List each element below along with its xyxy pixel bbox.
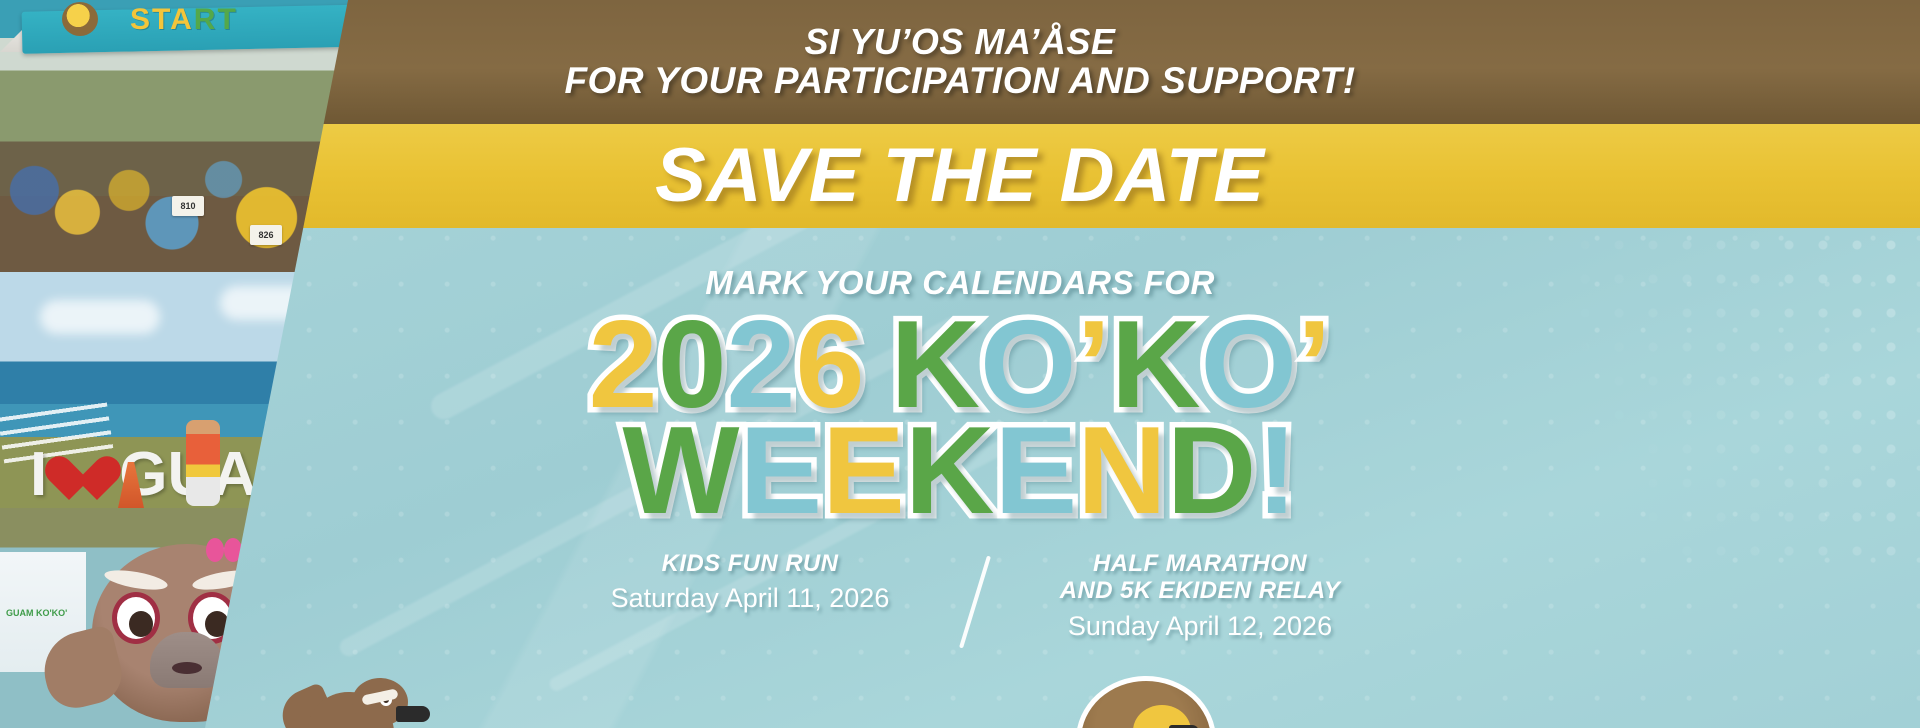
mascot-eye: [112, 592, 160, 644]
event-title: KIDS FUN RUN: [585, 550, 915, 577]
thanks-line-2: FOR YOUR PARTICIPATION AND SUPPORT!: [564, 61, 1355, 101]
event-kids-fun-run: KIDS FUN RUN Saturday April 11, 2026: [585, 550, 915, 614]
event-date: Saturday April 11, 2026: [585, 583, 915, 614]
event-date: Sunday April 12, 2026: [1035, 611, 1365, 642]
event-title-line-2: AND 5K EKIDEN RELAY: [1035, 577, 1365, 604]
badge-bird-head: [1133, 705, 1191, 728]
event-half-marathon: HALF MARATHON AND 5K EKIDEN RELAY Sunday…: [1035, 550, 1365, 642]
save-the-date-text: SAVE THE DATE: [655, 138, 1265, 214]
bird-head: [352, 678, 408, 726]
logo-road-race: GUAM KO’KO’ ROAD RACE: [1060, 680, 1240, 728]
sign-letter-i: I: [30, 449, 47, 502]
bird-beak: [396, 706, 430, 722]
road-race-badge-icon: [1076, 676, 1216, 728]
race-bib: 810: [172, 196, 204, 216]
cloud: [40, 300, 160, 334]
mascot-beak: [150, 632, 224, 688]
koko-bird-logo-icon: [62, 2, 98, 36]
bird-eye: [380, 694, 392, 706]
promotional-banner: START START / FINISH 810 826 855 843 I G…: [0, 0, 1920, 728]
event-divider: [915, 550, 1035, 650]
headline-weekend: WEEKEND!: [0, 414, 1920, 528]
event-title-line-1: HALF MARATHON: [1035, 550, 1365, 577]
logo-kids-fun-run: GUAM KO’KO’ KIDS FUN RUN: [260, 668, 450, 728]
event-details-row: KIDS FUN RUN Saturday April 11, 2026 HAL…: [330, 550, 1620, 670]
thanks-line-1: SI YU’OS MA’ÅSE: [805, 23, 1116, 62]
koko-bird-mascot-icon: [282, 668, 412, 728]
signage-text: GUAM KO'KO': [6, 608, 67, 618]
start-arch-label: START: [130, 3, 238, 37]
heart-icon: [57, 454, 109, 502]
runner-figure: [186, 420, 220, 506]
race-bib: 826: [250, 225, 282, 245]
